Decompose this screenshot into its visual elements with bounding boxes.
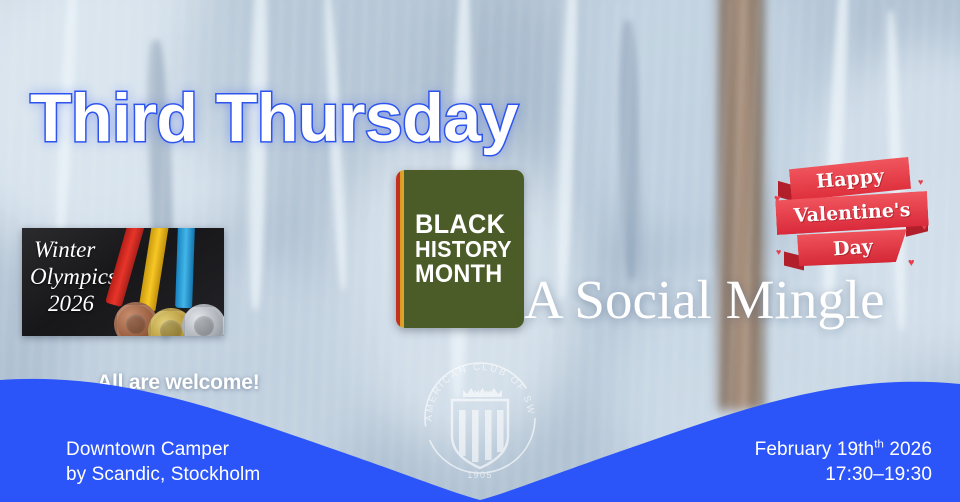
bhm-word-black: BLACK: [415, 211, 512, 239]
venue-line-1: Downtown Camper: [66, 437, 260, 463]
medal-ribbon-yellow: [138, 228, 169, 312]
olympics-line-2: Olympics: [30, 263, 117, 290]
event-date-text: February 19th: [755, 439, 875, 460]
winter-olympics-label: Winter Olympics 2026: [34, 236, 117, 317]
black-history-month-badge: BLACK HISTORY MONTH: [396, 170, 524, 328]
bhm-text-block: BLACK HISTORY MONTH: [404, 170, 524, 328]
venue-block: Downtown Camper by Scandic, Stockholm: [66, 437, 260, 488]
heart-icon: ♥: [774, 194, 781, 205]
page-subtitle: A Social Mingle: [524, 272, 885, 327]
olympics-line-1: Winter: [34, 236, 117, 263]
winter-olympics-card: Winter Olympics 2026: [22, 228, 224, 336]
event-time-range: 17:30–19:30: [755, 462, 932, 488]
valentine-line-day: Day: [797, 227, 909, 269]
event-year: 2026: [889, 439, 932, 460]
venue-line-2: by Scandic, Stockholm: [66, 462, 260, 488]
event-date-ordinal: th: [874, 438, 884, 450]
medal-ribbon-blue: [175, 228, 195, 308]
page-title: Third Thursday: [30, 84, 518, 152]
event-date: February 19thth 2026: [755, 437, 932, 463]
bhm-word-month: MONTH: [415, 262, 512, 288]
silver-medal-icon: [182, 304, 224, 336]
heart-icon: ♥: [776, 248, 781, 257]
heart-icon: ♥: [922, 224, 927, 232]
bhm-word-history: HISTORY: [415, 238, 512, 261]
heart-icon: ♥: [918, 178, 923, 187]
heart-icon: ♥: [908, 258, 915, 269]
datetime-block: February 19thth 2026 17:30–19:30: [755, 437, 932, 488]
event-banner: Third Thursday Winter Olympics 2026 BLAC…: [0, 0, 960, 502]
valentines-badge: Happy Valentine's Day ♥ ♥ ♥ ♥ ♥: [776, 162, 928, 280]
